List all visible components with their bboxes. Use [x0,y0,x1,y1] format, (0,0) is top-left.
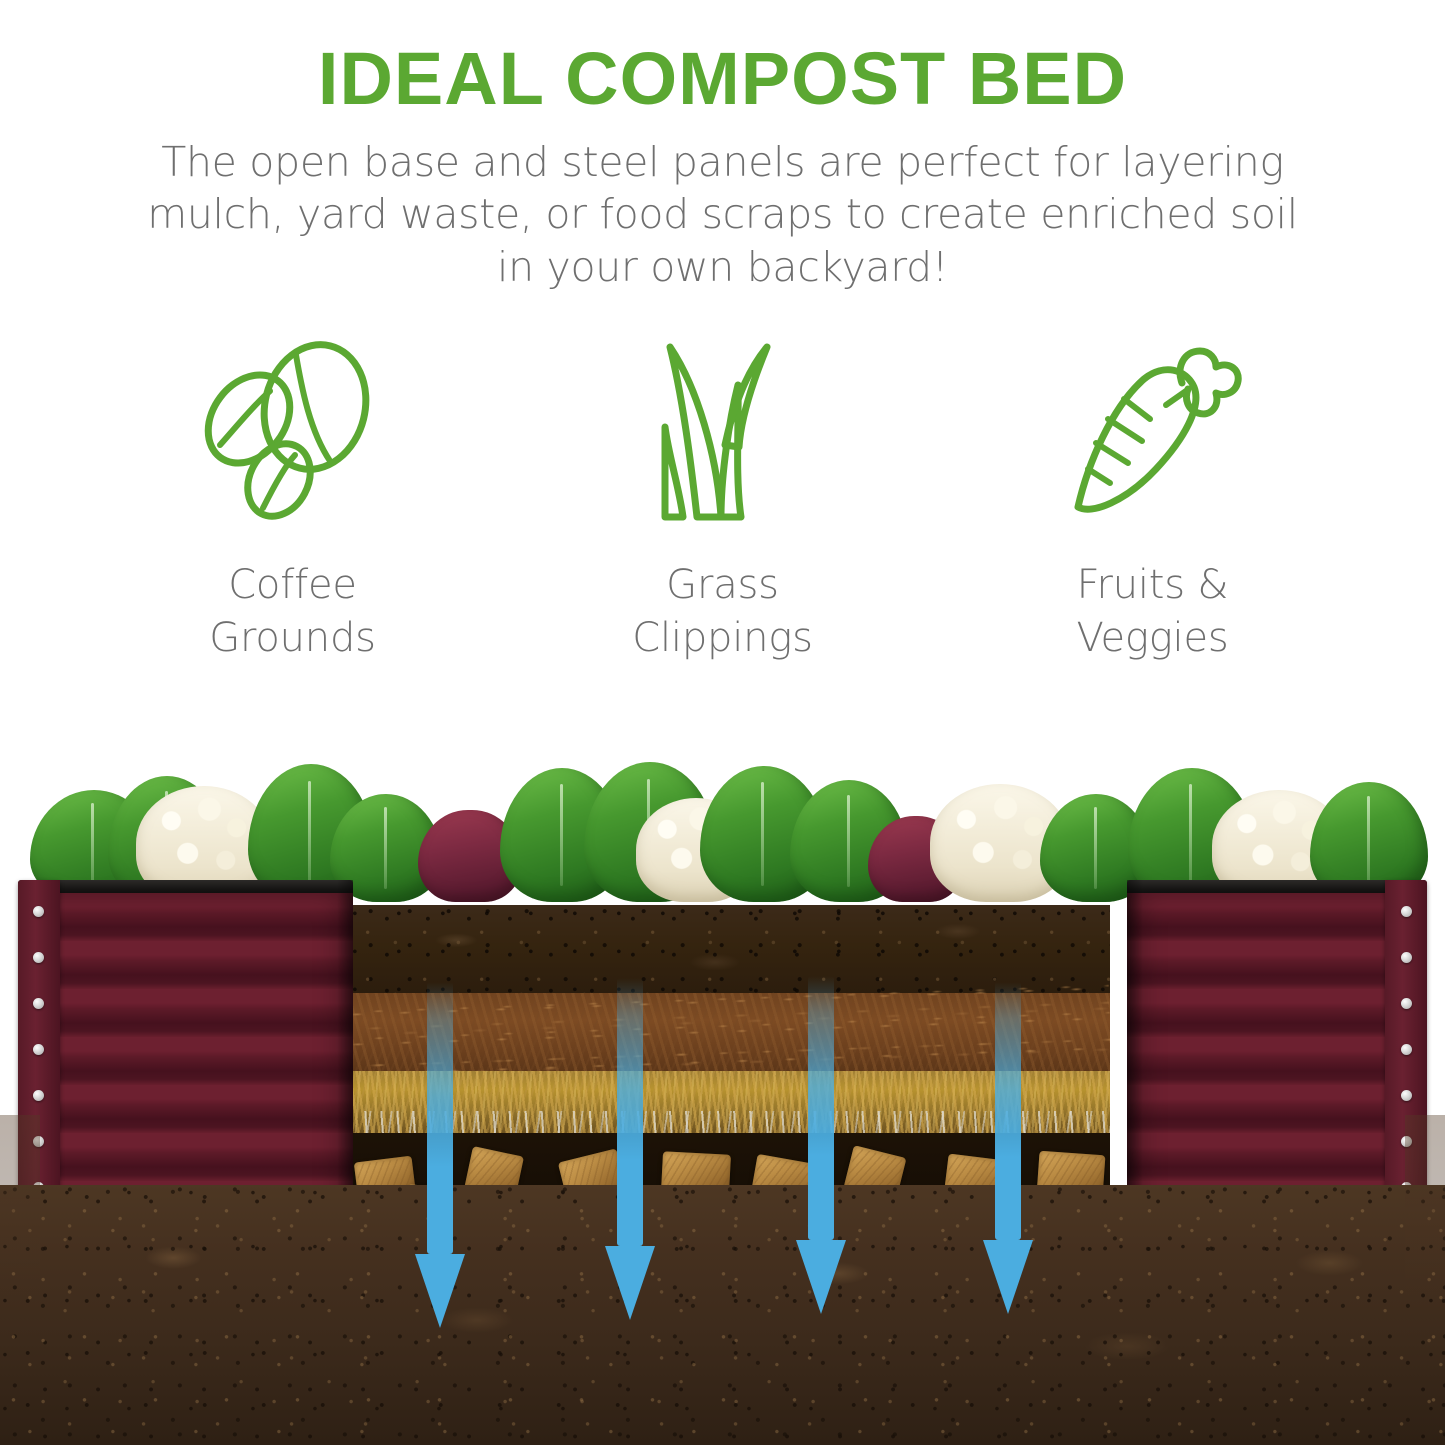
infographic-page: IDEAL COMPOST BED The open base and stee… [0,0,1445,1445]
grass-blades-icon [635,330,810,535]
page-subtitle: The open base and steel panels are perfe… [123,116,1323,293]
coffee-beans-icon [198,330,388,535]
arrow-shaft [427,982,453,1254]
screw [1401,952,1412,963]
feature-label-line2: Grounds [209,615,376,661]
feature-label-line1: Grass [666,562,779,608]
screw [33,998,44,1009]
screw [33,1090,44,1101]
arrow-head [605,1246,655,1320]
feature-coffee-grounds: Coffee Grounds [78,330,508,665]
screw [1401,906,1412,917]
screw [1401,1090,1412,1101]
feature-label: Coffee Grounds [209,559,376,665]
feature-grass-clippings: Grass Clippings [508,330,938,665]
ground-soil [0,1185,1445,1445]
screw [33,906,44,917]
arrow-head [983,1240,1033,1314]
arrow-shaft [808,976,834,1240]
screw [33,952,44,963]
feature-label-line1: Coffee [228,562,357,608]
page-title: IDEAL COMPOST BED [0,0,1445,116]
header: IDEAL COMPOST BED The open base and stee… [0,0,1445,293]
feature-label-line1: Fruits & [1077,562,1229,608]
feature-list: Coffee Grounds Grass Clippings [0,330,1445,665]
screw [1401,1044,1412,1055]
feature-label: Grass Clippings [632,559,812,665]
feature-fruits-veggies: Fruits & Veggies [938,330,1368,665]
soil-mound-right [1405,1115,1445,1295]
soil-mound-left [0,1115,40,1295]
arrow-shaft [995,982,1021,1240]
screw [1401,998,1412,1009]
feature-label-line2: Veggies [1076,615,1228,661]
layer-topsoil [350,905,1110,993]
arrow-head [796,1240,846,1314]
screw [33,1044,44,1055]
product-photo [0,700,1445,1445]
arrow-shaft [617,978,643,1246]
feature-label-line2: Clippings [632,615,812,661]
carrot-icon [1058,330,1248,535]
arrow-head [415,1254,465,1328]
feature-label: Fruits & Veggies [1076,559,1228,665]
